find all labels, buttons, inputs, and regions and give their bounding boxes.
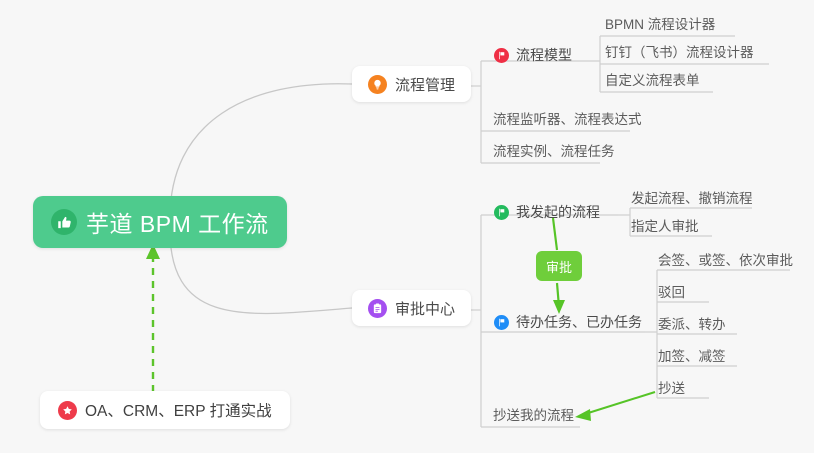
leaf-label-bpmn-designer: BPMN 流程设计器 — [605, 13, 715, 33]
leaf-label-countersign: 会签、或签、依次审批 — [658, 249, 793, 269]
leaf-label-add-remove-sign: 加签、减签 — [658, 345, 726, 365]
leaf-label-dingtalk-designer: 钉钉（飞书）流程设计器 — [605, 41, 754, 61]
lightbulb-icon — [368, 75, 387, 94]
branch-label-process-management: 流程管理 — [395, 74, 455, 95]
leaf-node-bpmn-designer[interactable]: BPMN 流程设计器 — [601, 10, 721, 36]
leaf-label-reject: 驳回 — [658, 281, 685, 301]
root-node[interactable]: 芋道 BPM 工作流 — [33, 196, 287, 248]
flag-blue-icon — [494, 315, 509, 330]
topic-node-process-model[interactable]: 流程模型 — [494, 42, 578, 68]
leaf-label-process-listener: 流程监听器、流程表达式 — [493, 108, 642, 128]
arrow-approval-flow-lower — [557, 283, 559, 307]
leaf-label-initiate-cancel: 发起流程、撤销流程 — [631, 187, 753, 207]
branch-node-approval-center[interactable]: 审批中心 — [352, 290, 471, 326]
branch-node-process-management[interactable]: 流程管理 — [352, 66, 471, 102]
leaf-node-initiate-cancel[interactable]: 发起流程、撤销流程 — [627, 184, 759, 210]
leaf-node-custom-form[interactable]: 自定义流程表单 — [601, 66, 706, 92]
star-badge-icon — [58, 401, 77, 420]
leaf-label-assigned-approval: 指定人审批 — [631, 215, 699, 235]
arrow-cc-to-ccmine — [585, 392, 655, 414]
topic-label-todo-done-tasks: 待办任务、已办任务 — [516, 312, 642, 332]
leaf-node-cc-my-process[interactable]: 抄送我的流程 — [489, 401, 580, 427]
callout-node-integration[interactable]: OA、CRM、ERP 打通实战 — [40, 391, 290, 429]
leaf-label-cc-my-process: 抄送我的流程 — [493, 404, 574, 424]
flag-green-icon — [494, 205, 509, 220]
leaf-label-process-instance: 流程实例、流程任务 — [493, 140, 615, 160]
leaf-node-process-listener[interactable]: 流程监听器、流程表达式 — [489, 105, 648, 131]
callout-label-integration: OA、CRM、ERP 打通实战 — [85, 399, 272, 421]
thumbs-up-icon — [51, 209, 77, 235]
leaf-node-countersign[interactable]: 会签、或签、依次审批 — [654, 246, 799, 272]
topic-node-todo-done-tasks[interactable]: 待办任务、已办任务 — [494, 309, 648, 335]
leaf-node-add-remove-sign[interactable]: 加签、减签 — [654, 342, 732, 368]
leaf-node-cc[interactable]: 抄送 — [654, 374, 691, 400]
mindmap-canvas: 芋道 BPM 工作流 流程管理 审批中心 — [0, 0, 814, 453]
clipboard-icon — [368, 299, 387, 318]
approval-flow-tag[interactable]: 审批 — [536, 251, 582, 281]
leaf-label-delegate-transfer: 委派、转办 — [658, 313, 726, 333]
topic-label-process-model: 流程模型 — [516, 45, 572, 65]
leaf-node-dingtalk-designer[interactable]: 钉钉（飞书）流程设计器 — [601, 38, 760, 64]
root-label: 芋道 BPM 工作流 — [86, 205, 269, 239]
branch-label-approval-center: 审批中心 — [395, 298, 455, 319]
leaf-label-custom-form: 自定义流程表单 — [605, 69, 700, 89]
approval-flow-tag-label: 审批 — [546, 257, 572, 276]
leaf-node-assigned-approval[interactable]: 指定人审批 — [627, 212, 705, 238]
topic-node-my-started-process[interactable]: 我发起的流程 — [494, 199, 606, 225]
flag-red-icon — [494, 48, 509, 63]
leaf-node-reject[interactable]: 驳回 — [654, 278, 691, 304]
topic-label-my-started-process: 我发起的流程 — [516, 202, 600, 222]
leaf-label-cc: 抄送 — [658, 377, 685, 397]
leaf-node-process-instance[interactable]: 流程实例、流程任务 — [489, 137, 621, 163]
leaf-node-delegate-transfer[interactable]: 委派、转办 — [654, 310, 732, 336]
